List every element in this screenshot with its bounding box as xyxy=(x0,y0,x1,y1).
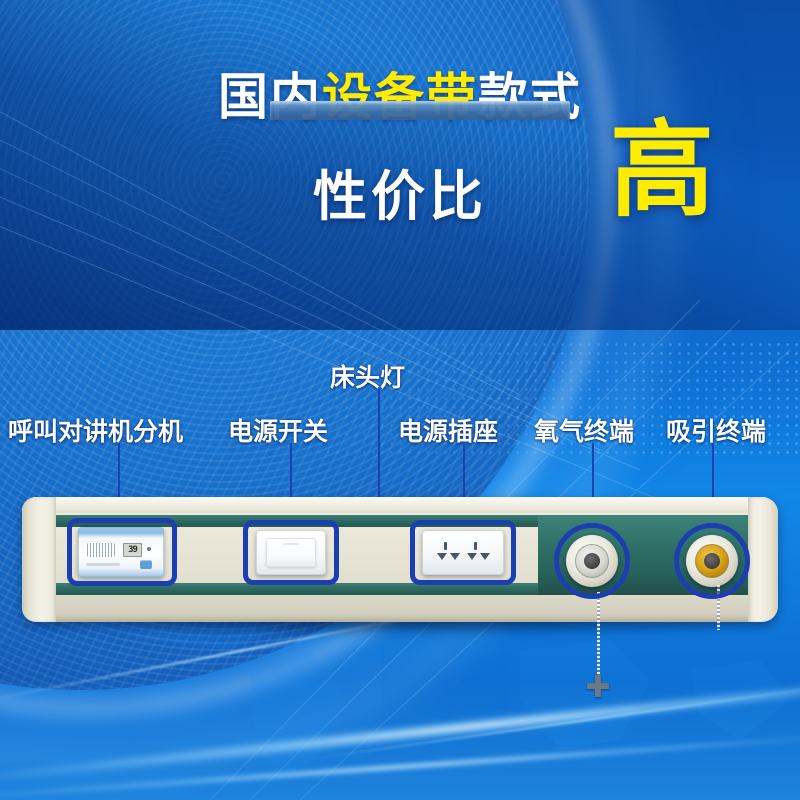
callout-label-suction: 吸引终端 xyxy=(666,412,766,448)
promo-banner: 国内设备带款式 性价比 高 呼叫对讲机分机 电源开关 床头灯 电源插座 氧气终端… xyxy=(0,0,800,800)
highlight-box-power-socket xyxy=(410,520,516,585)
panel-bottom-edge xyxy=(22,600,778,622)
highlight-box-power-switch xyxy=(243,520,339,585)
callout-label-power-switch: 电源开关 xyxy=(228,412,328,448)
panel-left-endcap xyxy=(22,497,56,622)
highlight-circle-suction xyxy=(674,523,750,599)
callout-label-bed-lamp: 床头灯 xyxy=(330,358,405,394)
highlight-box-intercom xyxy=(67,518,177,586)
panel-right-endcap xyxy=(748,497,778,622)
callout-label-oxygen: 氧气终端 xyxy=(534,412,634,448)
cord-plug-icon[interactable]: ✚ xyxy=(583,676,613,702)
callout-label-intercom: 呼叫对讲机分机 xyxy=(8,412,183,448)
bed-lamp-diffuser[interactable] xyxy=(270,101,570,120)
highlight-circle-oxygen xyxy=(554,523,630,599)
panel-top-edge xyxy=(22,497,778,513)
callout-label-power-socket: 电源插座 xyxy=(398,412,498,448)
